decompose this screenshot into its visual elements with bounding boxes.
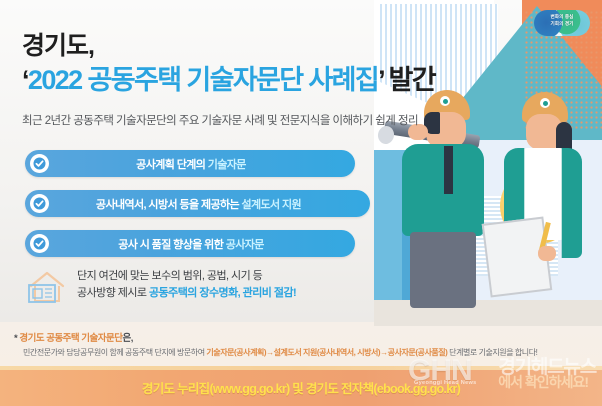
construction-illustration (374, 0, 602, 326)
note-line-1: 단지 여건에 맞는 보수의 범위, 공법, 시기 등 (77, 270, 262, 282)
bullet-2-highlight: 설계도서 지원 (241, 199, 301, 211)
footnote-line-1: * 경기도 공동주택 기술자문단은, (14, 330, 594, 344)
check-icon (30, 234, 49, 253)
page-title-line1: 경기도, (22, 26, 94, 62)
watermark-brand-sub: Gyeonggi Head News (414, 380, 477, 386)
bullet-1-lead: 공사계획 단계의 (136, 159, 208, 171)
bullet-pill-2: 공사내역서, 시방서 등을 제공하는 설계도서 지원 (25, 190, 370, 217)
footnote-asterisk: * (14, 333, 17, 344)
watermark-korean-line2: 에서 확인하세요! (498, 372, 588, 392)
note-block: 단지 여건에 맞는 보수의 범위, 공법, 시기 등 공사방향 제시로 공동주택… (25, 268, 296, 306)
title-suffix: ’ 발간 (378, 65, 435, 95)
bullet-text-2: 공사내역서, 시방서 등을 제공하는 설계도서 지원 (49, 196, 370, 212)
bullet-text-1: 공사계획 단계의 기술자문 (49, 156, 355, 172)
bullet-pill-3: 공사 시 품질 향상을 위한 공사자문 (25, 230, 355, 257)
logo-text-line2: 기회의 경기 (534, 20, 590, 27)
worker-female (486, 70, 596, 310)
note-line-2-highlight: 공동주택의 장수명화, 관리비 절감! (149, 287, 296, 299)
bullet-3-lead: 공사 시 품질 향상을 위한 (118, 239, 225, 251)
poster-graphic: 변화의 중심 기회의 경기 경기도, ‘2022 공동주택 기술자문단 사례집’… (0, 0, 602, 406)
note-text: 단지 여건에 맞는 보수의 범위, 공법, 시기 등 공사방향 제시로 공동주택… (77, 268, 296, 302)
bullet-pill-1: 공사계획 단계의 기술자문 (25, 150, 355, 177)
male-helmet-badge-inner (443, 99, 448, 104)
check-icon (30, 194, 49, 213)
check-icon (30, 154, 49, 173)
bullet-2-lead: 공사내역서, 시방서 등을 제공하는 (96, 199, 242, 211)
female-helmet-badge-inner (543, 101, 548, 106)
male-jacket (402, 144, 484, 236)
watermark: GHN Gyeonggi Head News 경기헤드뉴스 에서 확인하세요! (402, 352, 598, 404)
female-hand (538, 246, 556, 261)
footnote-line-2-lead: 민간전문가와 담당공무원이 함께 공동주택 단지에 방문하여 (23, 348, 206, 357)
bullet-1-highlight: 기술자문 (208, 159, 246, 171)
gyeonggi-province-logo: 변화의 중심 기회의 경기 (534, 10, 590, 36)
title-highlight: 2022 공동주택 기술자문단 사례집 (28, 65, 378, 95)
footnote-term-suffix: 은, (123, 333, 133, 344)
note-line-2-lead: 공사방향 제시로 (77, 287, 149, 299)
page-subtitle: 최근 2년간 공동주택 기술자문단의 주요 기술자문 사례 및 전문지식을 이해… (22, 112, 418, 128)
page-title-line2: ‘2022 공동주택 기술자문단 사례집’ 발간 (22, 58, 435, 97)
male-trousers (410, 232, 476, 308)
bullet-3-highlight: 공사자문 (226, 239, 264, 251)
bullet-text-3: 공사 시 품질 향상을 위한 공사자문 (49, 236, 355, 252)
house-blueprint-icon (25, 268, 69, 306)
male-tie (444, 146, 453, 194)
footnote-term: 경기도 공동주택 기술자문단 (19, 333, 122, 344)
